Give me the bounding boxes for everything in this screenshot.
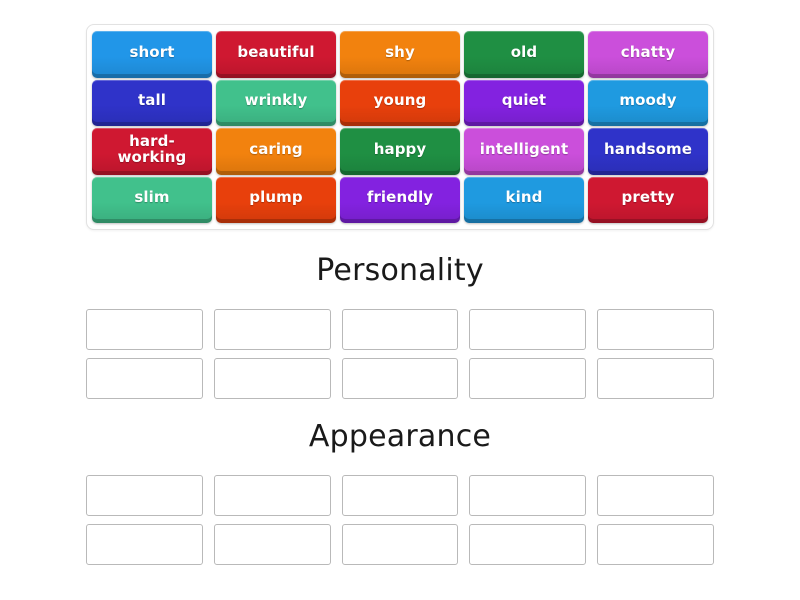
drop-slot[interactable]	[214, 475, 331, 516]
word-tile[interactable]: tall	[92, 80, 212, 127]
drop-slot[interactable]	[342, 524, 459, 565]
word-tile[interactable]: caring	[216, 128, 336, 175]
drop-slot[interactable]	[86, 524, 203, 565]
slot-grid-appearance	[86, 475, 714, 565]
drop-slot[interactable]	[342, 475, 459, 516]
slot-grid-personality	[86, 309, 714, 399]
word-tile[interactable]: chatty	[588, 31, 708, 78]
category-title-personality: Personality	[86, 256, 714, 286]
drop-slot[interactable]	[342, 309, 459, 350]
word-tile[interactable]: beautiful	[216, 31, 336, 78]
word-tile[interactable]: kind	[464, 177, 584, 224]
drop-slot[interactable]	[342, 358, 459, 399]
drop-slot[interactable]	[214, 524, 331, 565]
word-tile[interactable]: pretty	[588, 177, 708, 224]
drop-slot[interactable]	[86, 309, 203, 350]
drop-slot[interactable]	[597, 309, 714, 350]
word-tile[interactable]: plump	[216, 177, 336, 224]
word-tile[interactable]: young	[340, 80, 460, 127]
word-tile[interactable]: wrinkly	[216, 80, 336, 127]
drop-slot[interactable]	[469, 524, 586, 565]
word-tile[interactable]: hard-working	[92, 128, 212, 175]
drop-slot[interactable]	[86, 358, 203, 399]
word-tile[interactable]: slim	[92, 177, 212, 224]
word-tile[interactable]: moody	[588, 80, 708, 127]
word-tile[interactable]: shy	[340, 31, 460, 78]
word-tile[interactable]: old	[464, 31, 584, 78]
category-title-appearance: Appearance	[86, 422, 714, 452]
word-tile[interactable]: happy	[340, 128, 460, 175]
drop-slot[interactable]	[469, 309, 586, 350]
word-bank-grid: shortbeautifulshyoldchattytallwrinklyyou…	[92, 31, 708, 223]
word-tile[interactable]: handsome	[588, 128, 708, 175]
category-appearance: Appearance	[86, 422, 714, 565]
group-sort-activity: shortbeautifulshyoldchattytallwrinklyyou…	[0, 0, 800, 600]
word-tile[interactable]: intelligent	[464, 128, 584, 175]
word-tile[interactable]: friendly	[340, 177, 460, 224]
drop-slot[interactable]	[597, 475, 714, 516]
drop-slot[interactable]	[597, 358, 714, 399]
drop-slot[interactable]	[214, 309, 331, 350]
drop-slot[interactable]	[86, 475, 203, 516]
drop-slot[interactable]	[469, 358, 586, 399]
word-bank-tray: shortbeautifulshyoldchattytallwrinklyyou…	[86, 24, 714, 230]
word-tile[interactable]: quiet	[464, 80, 584, 127]
category-personality: Personality	[86, 256, 714, 399]
word-tile[interactable]: short	[92, 31, 212, 78]
drop-slot[interactable]	[214, 358, 331, 399]
drop-slot[interactable]	[597, 524, 714, 565]
drop-slot[interactable]	[469, 475, 586, 516]
